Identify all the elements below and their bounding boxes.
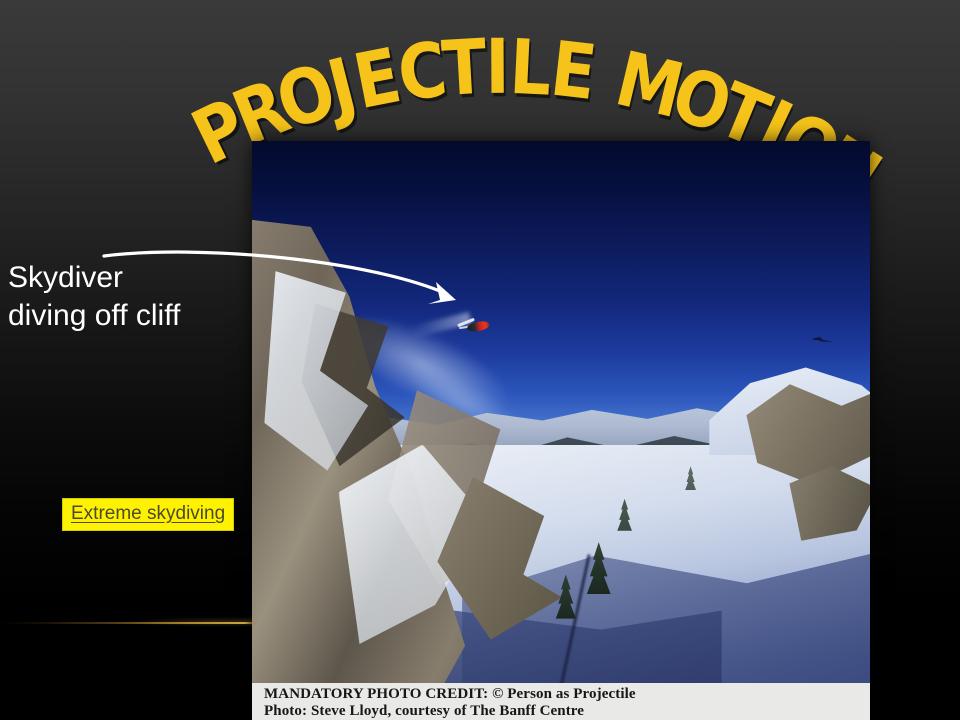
accent-divider-line [0,622,252,624]
caption-line-1: MANDATORY PHOTO CREDIT: © Person as Proj… [264,686,870,703]
title-letter: O [268,54,343,142]
callout-text: Skydiver diving off cliff [8,259,258,335]
title-letter: P [182,88,257,176]
title-letter: M [609,41,689,129]
title-letter: E [349,39,406,121]
title-letter: C [394,32,450,113]
extreme-skydiving-link-label[interactable]: Extreme skydiving [71,503,225,524]
skydiver-figure [457,318,497,334]
photo-skydiver [252,141,870,683]
callout-line-2: diving off cliff [8,297,258,335]
photo-credit-caption: MANDATORY PHOTO CREDIT: © Person as Proj… [252,683,870,720]
page-title: PROJECTILE MOTION PROJECTILEMOTION [0,18,960,138]
title-letter: L [508,30,552,107]
slide-canvas: PROJECTILE MOTION PROJECTILEMOTION [0,0,960,720]
title-letter: E [547,32,599,112]
title-letter: J [322,48,363,127]
extreme-skydiving-link[interactable]: Extreme skydiving [62,498,234,531]
title-letter: I [485,30,509,106]
caption-line-2: Photo: Steve Lloyd, courtesy of The Banf… [264,703,870,720]
title-letter: T [440,30,488,108]
callout-line-1: Skydiver [8,259,258,297]
title-letter: O [664,56,739,145]
